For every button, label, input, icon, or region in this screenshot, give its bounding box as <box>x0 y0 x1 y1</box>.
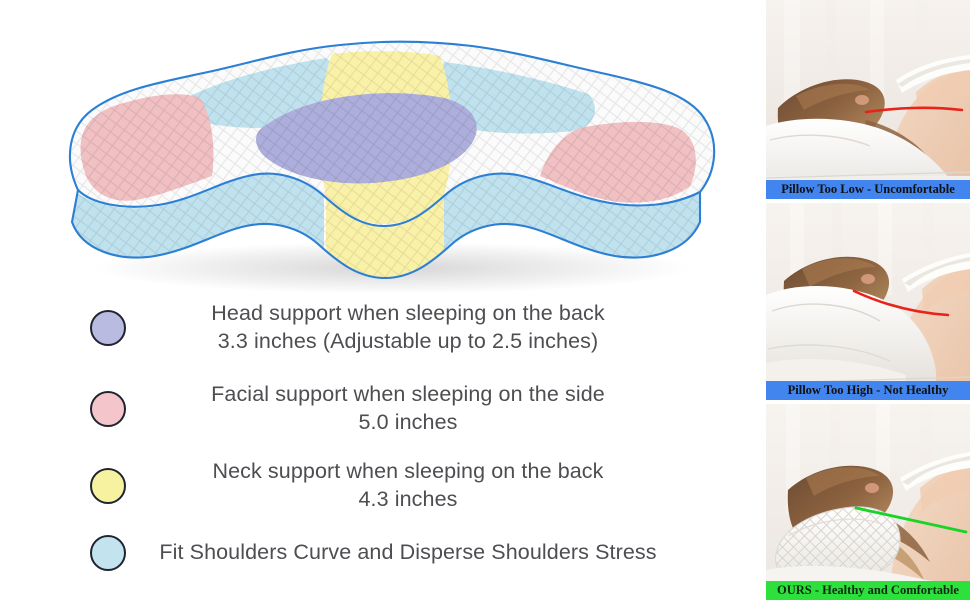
ours-healthy-caption: OURS - Healthy and Comfortable <box>766 581 970 600</box>
legend-item-neck-support-text: Neck support when sleeping on the back 4… <box>126 458 750 513</box>
neck-support-swatch <box>90 468 126 504</box>
caption-text: Pillow Too High - Not Healthy <box>788 383 949 398</box>
legend-item-shoulder-curve-text: Fit Shoulders Curve and Disperse Shoulde… <box>126 539 750 567</box>
pillow-too-low-image <box>766 0 970 199</box>
pillow-body <box>40 10 730 295</box>
head-support-swatch <box>90 310 126 346</box>
legend-item-head-support: Head support when sleeping on the back 3… <box>90 300 750 355</box>
legend-item-head-support-text: Head support when sleeping on the back 3… <box>126 300 750 355</box>
legend-line-2: 4.3 inches <box>126 486 690 514</box>
legend-item-neck-support: Neck support when sleeping on the back 4… <box>90 458 750 513</box>
caption-text: Pillow Too Low - Uncomfortable <box>781 182 955 197</box>
shoulder-curve-swatch <box>90 535 126 571</box>
legend-line-1: Facial support when sleeping on the side <box>211 382 605 406</box>
comparison-panel: Pillow Too Low - Uncomfortable <box>766 0 970 600</box>
legend-list: Head support when sleeping on the back 3… <box>90 300 750 593</box>
pillow-too-high-image <box>766 203 970 400</box>
legend-item-shoulder-curve: Fit Shoulders Curve and Disperse Shoulde… <box>90 535 750 571</box>
infographic-root: Head support when sleeping on the back 3… <box>0 0 970 600</box>
pillow-too-high-photo: Pillow Too High - Not Healthy <box>766 203 970 400</box>
pillow-illustration <box>40 10 730 295</box>
pillow-too-high-caption: Pillow Too High - Not Healthy <box>766 381 970 400</box>
legend-line-2: 5.0 inches <box>126 409 690 437</box>
ours-healthy-image <box>766 404 970 600</box>
legend-item-facial-support: Facial support when sleeping on the side… <box>90 381 750 436</box>
caption-text: OURS - Healthy and Comfortable <box>777 583 959 598</box>
legend-line-1: Head support when sleeping on the back <box>211 301 604 325</box>
legend-item-facial-support-text: Facial support when sleeping on the side… <box>126 381 750 436</box>
pillow-too-low-photo: Pillow Too Low - Uncomfortable <box>766 0 970 199</box>
left-panel: Head support when sleeping on the back 3… <box>0 0 766 600</box>
facial-support-swatch <box>90 391 126 427</box>
pillow-too-low-caption: Pillow Too Low - Uncomfortable <box>766 180 970 199</box>
legend-line-1: Fit Shoulders Curve and Disperse Shoulde… <box>159 540 656 564</box>
ours-healthy-photo: OURS - Healthy and Comfortable <box>766 404 970 600</box>
legend-line-1: Neck support when sleeping on the back <box>212 459 603 483</box>
legend-line-2: 3.3 inches (Adjustable up to 2.5 inches) <box>126 328 690 356</box>
